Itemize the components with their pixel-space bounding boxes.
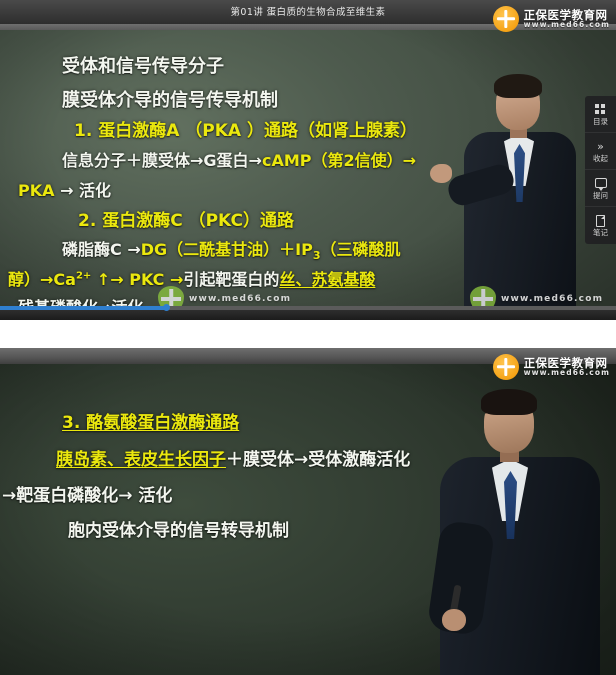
board-line-5-part-b: → 活化 xyxy=(60,181,111,200)
sidebar-item-collapse-label: 收起 xyxy=(593,155,608,163)
progress-handle[interactable] xyxy=(163,304,170,311)
brand-logo-bottom: 正保医学教育网 www.med66.com xyxy=(493,354,610,380)
player-side-toolbar[interactable]: 目录 » 收起 提问 笔记 xyxy=(585,96,616,244)
board-line-8-superscript: 2+ xyxy=(76,271,91,282)
watermark-url: www.med66.com xyxy=(189,294,291,304)
brand-text-2: 正保医学教育网 www.med66.com xyxy=(524,357,610,378)
chevron-double-right-icon: » xyxy=(597,140,604,153)
page-root: 受体和信号传导分子 膜受体介导的信号传导机制 1. 蛋白激酶A （PKA ）通路… xyxy=(0,0,616,675)
board-line-7: 磷脂酶C →DG（二酰基甘油）＋IP3（三磷酸肌 xyxy=(62,236,401,262)
board-line-8-part-d: 丝、苏氨基酸 xyxy=(279,270,375,289)
board2-line-2-part-b: ＋膜受体→受体激酶活化 xyxy=(226,450,410,470)
note-page-icon xyxy=(596,214,605,227)
panel-gap xyxy=(0,320,616,348)
board-line-2: 膜受体介导的信号传导机制 xyxy=(62,86,278,112)
sidebar-item-catalog[interactable]: 目录 xyxy=(585,96,616,133)
board-line-8-part-a: 醇）→Ca xyxy=(8,270,76,289)
grid-icon xyxy=(595,103,606,116)
sidebar-item-notes[interactable]: 笔记 xyxy=(585,207,616,244)
progress-fill xyxy=(0,306,166,310)
board-line-4-part-b: cAMP（第2信使）→ xyxy=(262,151,416,170)
watermark-url-2: www.med66.com xyxy=(501,294,603,304)
board2-line-2: 胰岛素、表皮生长因子＋膜受体→受体激酶活化 xyxy=(56,445,410,470)
board-line-7-subscript: 3 xyxy=(313,249,321,262)
video-player-top[interactable]: 受体和信号传导分子 膜受体介导的信号传导机制 1. 蛋白激酶A （PKA ）通路… xyxy=(0,0,616,320)
board-line-5-part-a: PKA xyxy=(18,181,60,200)
sidebar-item-ask-label: 提问 xyxy=(593,192,608,200)
board-line-7-part-a: 磷脂酶C → xyxy=(62,240,141,259)
sidebar-item-collapse[interactable]: » 收起 xyxy=(585,133,616,170)
board-line-5: PKA → 活化 xyxy=(18,177,111,201)
board-line-4: 信息分子＋膜受体→G蛋白→cAMP（第2信使）→ xyxy=(62,147,416,171)
player-controls-bar[interactable] xyxy=(0,310,616,320)
board2-line-1: 3. 酪氨酸蛋白激酶通路 xyxy=(62,408,239,433)
board-line-3: 1. 蛋白激酶A （PKA ）通路（如肾上腺素） xyxy=(74,116,417,141)
brand-text: 正保医学教育网 www.med66.com xyxy=(524,9,610,30)
board-line-1: 受体和信号传导分子 xyxy=(62,52,224,78)
sidebar-item-notes-label: 笔记 xyxy=(593,229,608,237)
board2-line-2-part-a: 胰岛素、表皮生长因子 xyxy=(56,450,226,470)
board-line-6: 2. 蛋白激酶C （PKC）通路 xyxy=(78,206,294,231)
speech-bubble-icon xyxy=(595,177,607,190)
board-line-4-part-a: 信息分子＋膜受体→G蛋白→ xyxy=(62,151,262,170)
video-player-bottom[interactable]: 3. 酪氨酸蛋白激酶通路 胰岛素、表皮生长因子＋膜受体→受体激酶活化 →靶蛋白磷… xyxy=(0,348,616,675)
board-line-7-part-b: DG（二酰基甘油）＋IP xyxy=(141,240,313,259)
board-line-7-part-c: （三磷酸肌 xyxy=(321,240,401,259)
board2-line-4: 胞内受体介导的信号转导机制 xyxy=(68,516,289,541)
sidebar-item-ask[interactable]: 提问 xyxy=(585,170,616,207)
brand-logo-top: 正保医学教育网 www.med66.com xyxy=(493,6,610,32)
brand-url-2: www.med66.com xyxy=(524,369,610,377)
brand-cross-circle-icon xyxy=(493,6,519,32)
brand-cross-circle-icon-2 xyxy=(493,354,519,380)
board2-line-3: →靶蛋白磷酸化→ 活化 xyxy=(2,481,172,506)
progress-bar[interactable] xyxy=(0,306,616,310)
brand-url: www.med66.com xyxy=(524,21,610,29)
sidebar-item-catalog-label: 目录 xyxy=(593,118,608,126)
